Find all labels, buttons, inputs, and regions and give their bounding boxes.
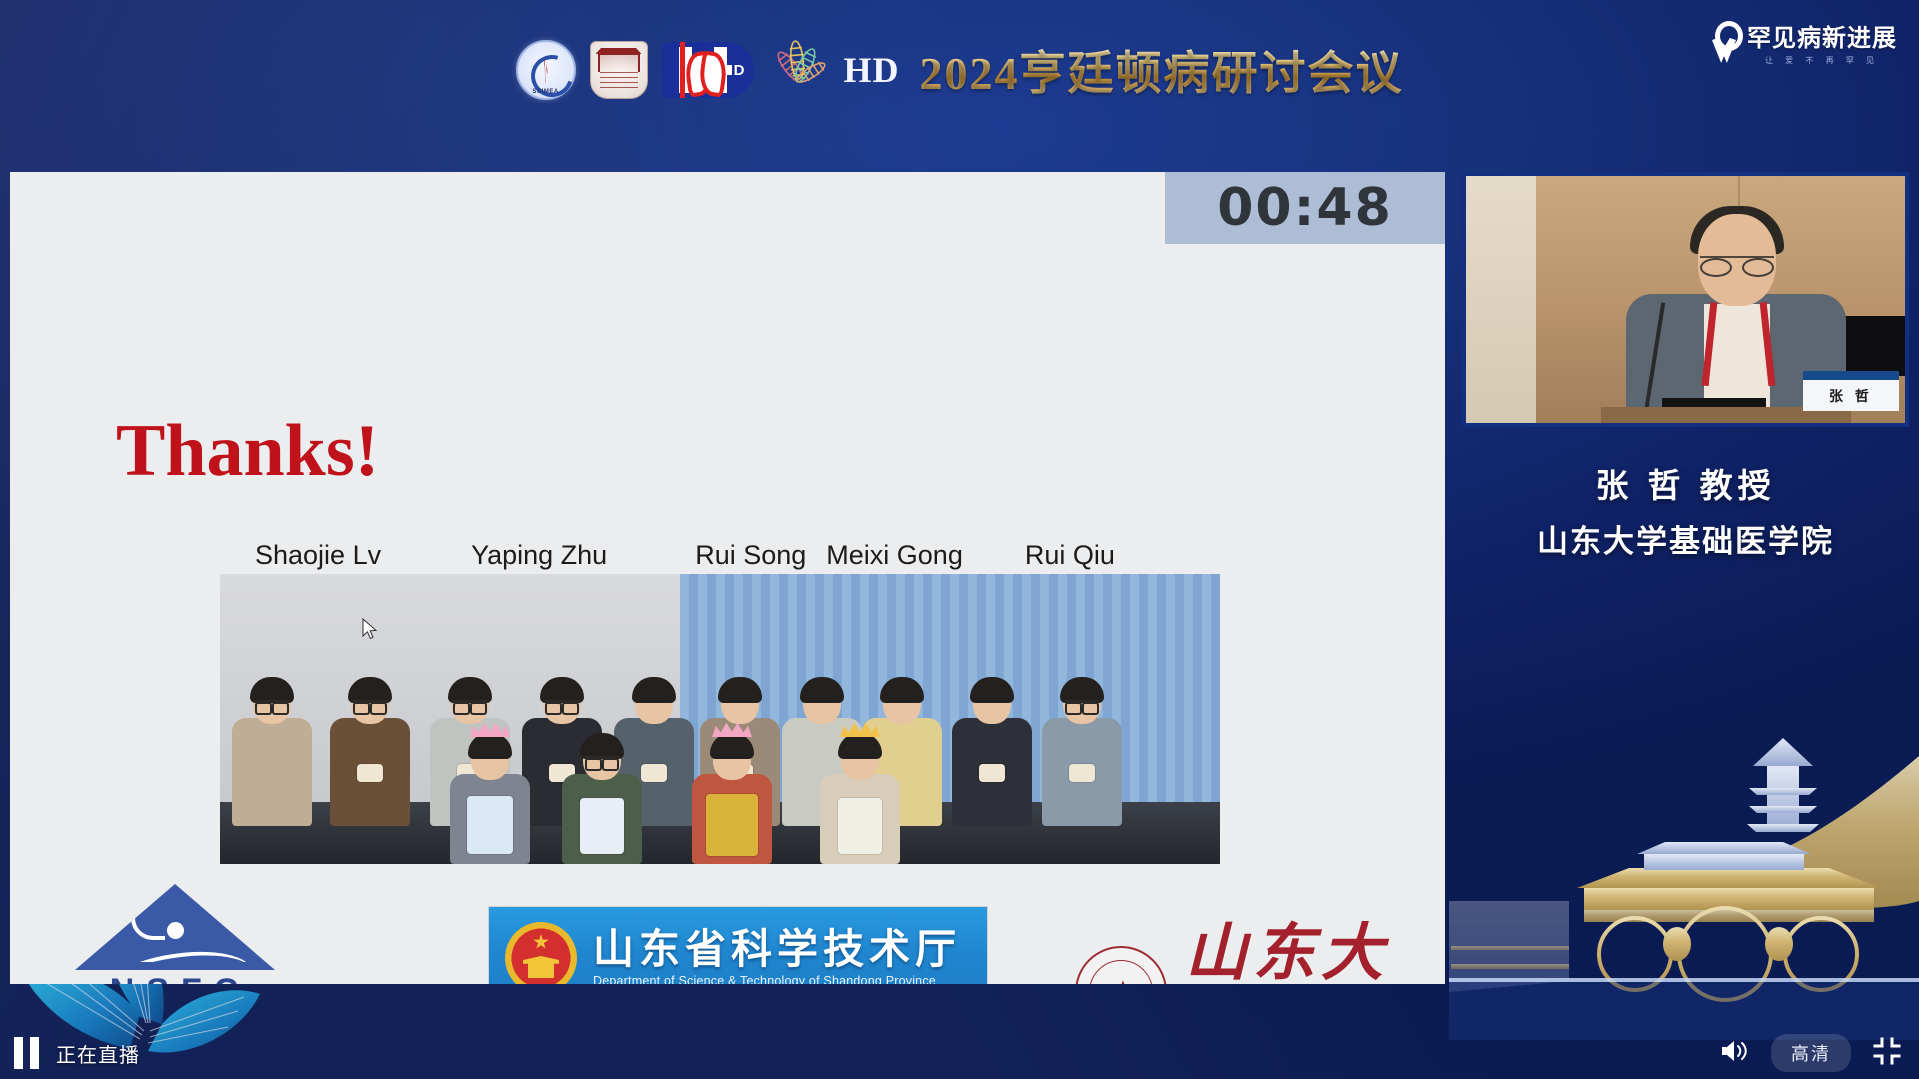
rare-disease-brand-subtitle: 让 爱 不 再 罕 见 <box>1747 55 1897 66</box>
video-player-controls[interactable]: 正在直播 高清 <box>0 1027 1919 1079</box>
pulse-mark-icon <box>544 58 548 84</box>
pause-button[interactable] <box>14 1037 40 1069</box>
countdown-timer: 00:48 <box>1165 172 1445 244</box>
presentation-slide[interactable]: 00:48 Thanks! Shaojie Lv Yaping Zhu Rui … <box>10 172 1445 984</box>
name-item: Rui Song <box>695 540 806 571</box>
scimea-seal-logo: SCIMEA <box>516 40 576 100</box>
speaker-nameplate: 张 哲 <box>1803 371 1899 411</box>
sdu-chinese-name: 山东大学 <box>1185 902 1445 984</box>
gate-icon <box>598 52 640 72</box>
sdst-english-name: Department of Science & Technology of Sh… <box>593 974 961 984</box>
awareness-ribbon-icon <box>1710 21 1738 63</box>
sdst-chinese-name: 山东省科学技术厅 <box>593 928 961 971</box>
exit-fullscreen-button[interactable] <box>1873 1037 1901 1070</box>
quality-selector[interactable]: 高清 <box>1771 1034 1851 1072</box>
acknowledgement-names: Shaojie Lv Yaping Zhu Rui Song Meixi Gon… <box>255 540 1255 571</box>
name-item: Yaping Zhu <box>471 540 607 571</box>
scimea-seal-caption: SCIMEA <box>518 89 574 95</box>
slide-heading: Thanks! <box>116 409 379 494</box>
volume-button[interactable] <box>1719 1038 1749 1069</box>
mouse-cursor <box>362 618 378 640</box>
hd-blue-logo: D <box>662 42 754 98</box>
speaker-affiliation: 山东大学基础医学院 <box>1462 516 1909 561</box>
speaker-name: 张 哲 教授 <box>1462 459 1909 507</box>
butterfly-icon <box>686 48 726 92</box>
glasses-icon <box>1700 256 1774 272</box>
live-stream-page: SCIMEA D <box>0 0 1919 1079</box>
hd-blue-logo-letter: D <box>734 62 745 79</box>
decorative-architecture-illustration <box>1449 696 1919 1041</box>
seal-lines <box>600 72 638 90</box>
hospital-seal-logo <box>590 41 648 99</box>
banner-title: 2024亨廷顿病研讨会议 <box>920 37 1404 103</box>
live-status-label: 正在直播 <box>56 1039 140 1068</box>
shandong-science-technology-logo: 山东省科学技术厅 Department of Science & Technol… <box>488 906 988 984</box>
national-emblem-icon <box>505 922 577 984</box>
speaker-video-feed[interactable]: 张 哲 <box>1462 172 1909 427</box>
name-item: Rui Qiu <box>1025 540 1115 571</box>
speaker-on-icon <box>1719 1038 1749 1064</box>
banner-hd-label: HD <box>844 49 900 91</box>
name-item: Shaojie Lv <box>255 540 381 571</box>
exit-fullscreen-icon <box>1873 1037 1901 1065</box>
nsfc-logo: NSFC National Natural Science Foundation… <box>45 884 305 984</box>
name-item: Meixi Gong <box>826 540 963 571</box>
rare-disease-brand: 罕见病新进展 让 爱 不 再 罕 见 <box>1710 18 1897 66</box>
event-banner: SCIMEA D <box>0 0 1919 140</box>
dna-leaf-logo <box>768 38 830 102</box>
sdu-seal-icon: 1901 <box>1075 946 1167 984</box>
rare-disease-brand-title: 罕见病新进展 <box>1747 18 1897 53</box>
nsfc-acronym: NSFC <box>45 972 305 984</box>
shandong-university-logo: 1901 山东大学 <box>1075 902 1445 984</box>
speaker-panel: 张 哲 张 哲 教授 山东大学基础医学院 <box>1462 172 1909 561</box>
